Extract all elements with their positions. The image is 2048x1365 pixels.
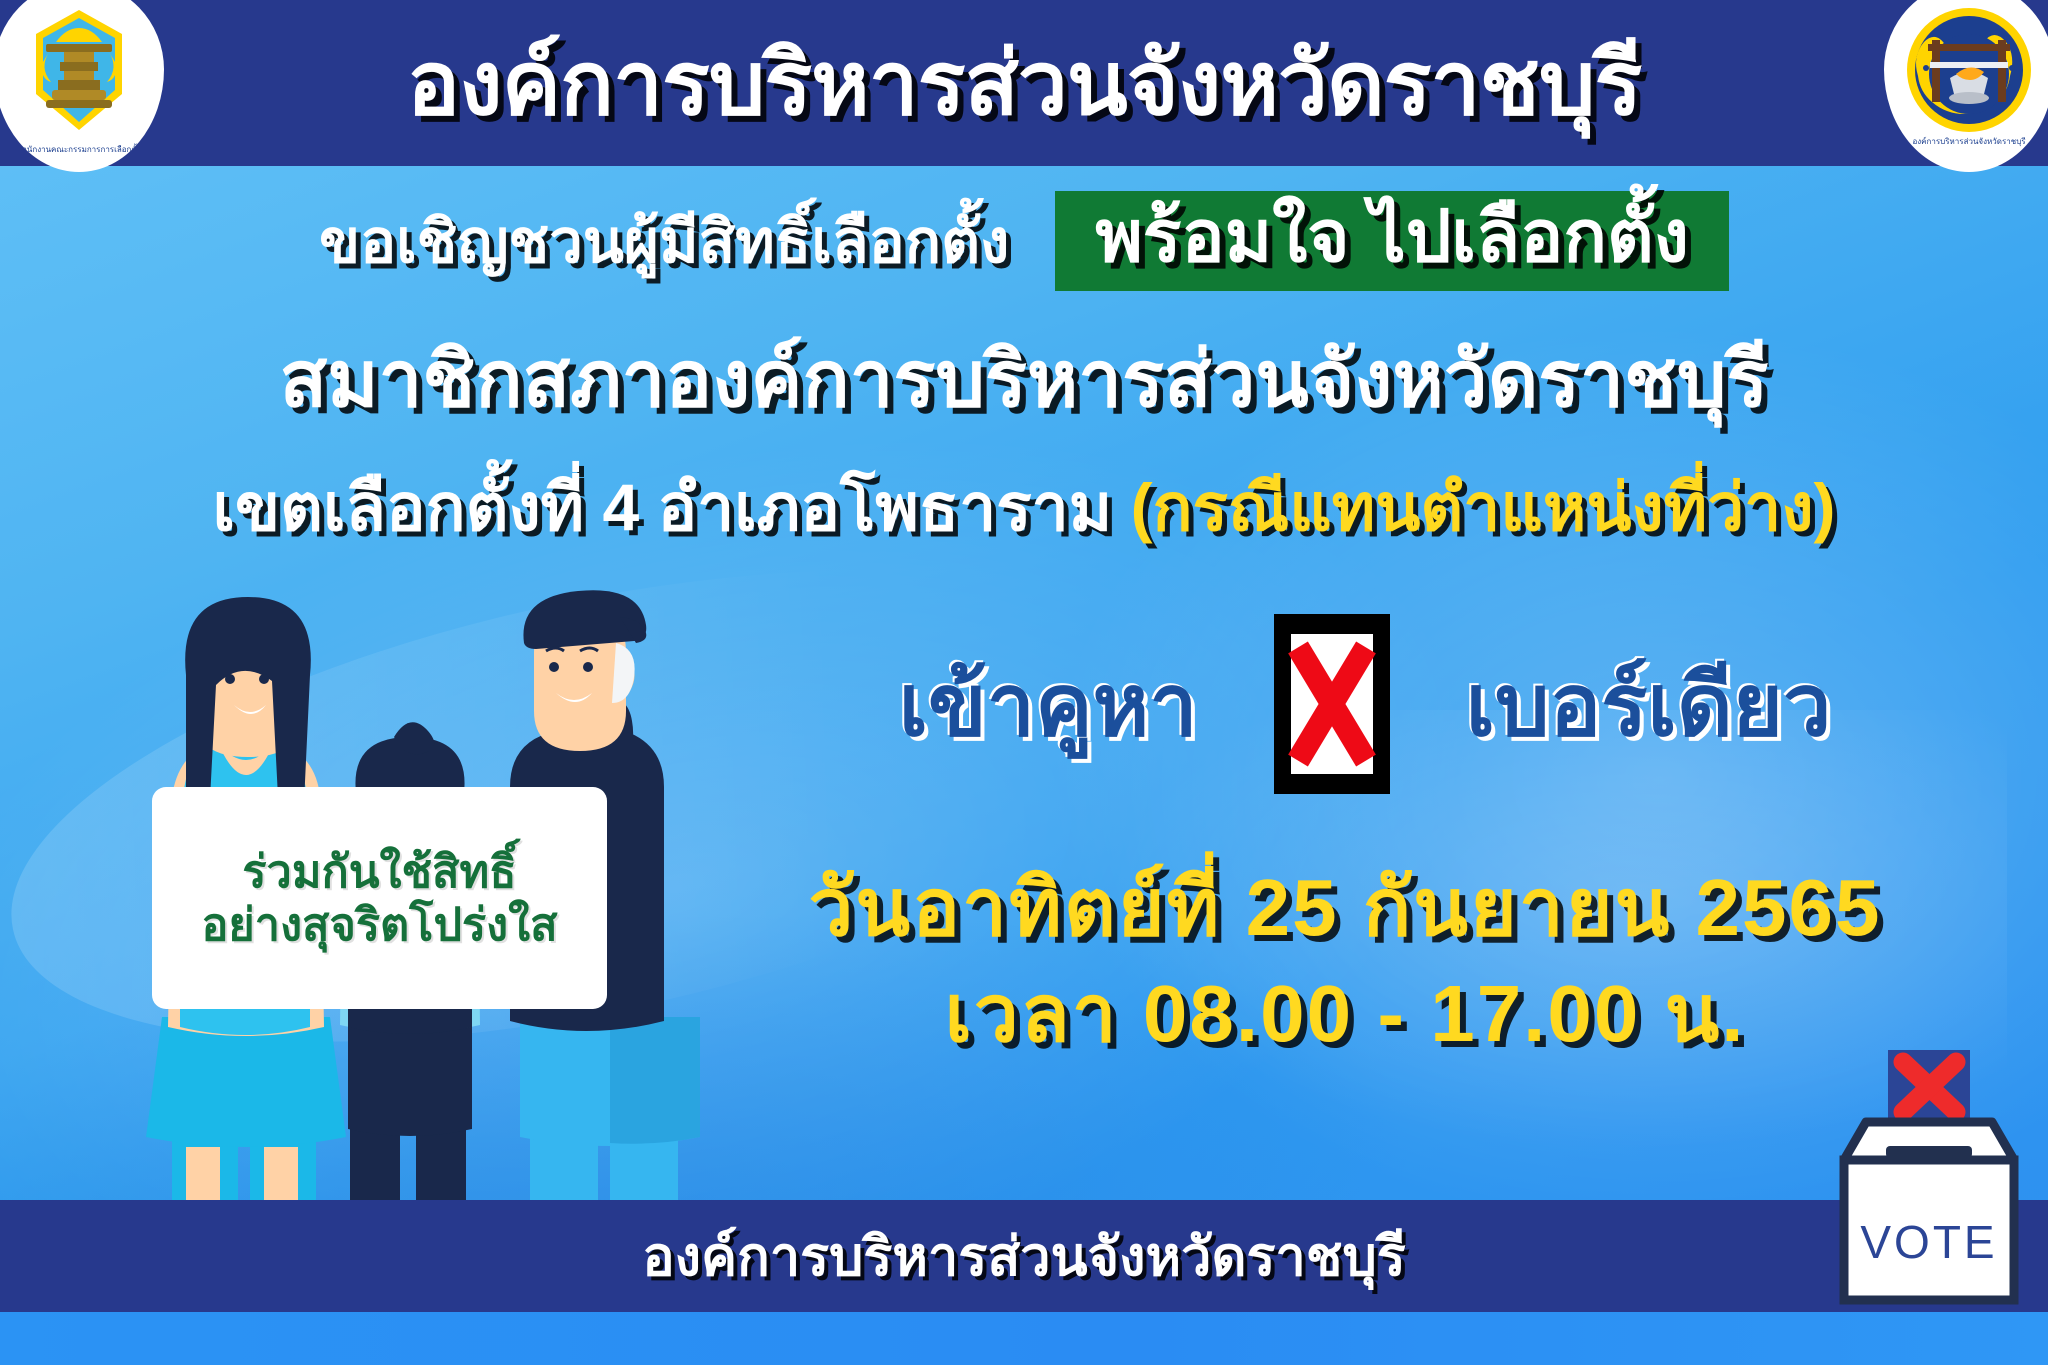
sign-line-2: อย่างสุจริตโปร่งใส: [201, 898, 557, 951]
red-x-ballot-mark-icon: [1274, 614, 1390, 794]
footer-bar: องค์การบริหารส่วนจังหวัดราชบุรี: [0, 1200, 2048, 1312]
woman-eye-right: [259, 674, 269, 684]
svg-text:สำนักงานคณะกรรมการการเลือกตั้ง: สำนักงานคณะกรรมการการเลือกตั้ง: [18, 143, 141, 154]
woman-skirt: [146, 1017, 346, 1147]
svg-text:องค์การบริหารส่วนจังหวัดราชบุร: องค์การบริหารส่วนจังหวัดราชบุรี: [1912, 136, 2026, 146]
booth-instruction-row: เข้าคูหา เบอร์เดียว: [770, 596, 1960, 812]
page-title: องค์การบริหารส่วนจังหวัดราชบุรี: [0, 0, 2048, 166]
slogan-text: พร้อมใจ ไปเลือกตั้ง: [1095, 197, 1689, 278]
council-row: สมาชิกสภาองค์การบริหารส่วนจังหวัดราชบุรี: [0, 337, 2048, 423]
child-shorts: [348, 1017, 472, 1136]
enter-booth-text: เข้าคูหา: [899, 636, 1198, 773]
ballot-box-with-red-x-icon: VOTE: [1826, 1050, 2032, 1310]
district-text: เขตเลือกตั้งที่ 4 อำเภอโพธาราม: [212, 470, 1130, 544]
invitation-row: ขอเชิญชวนผู้มีสิทธิ์เลือกตั้ง พร้อมใจ ไป…: [0, 176, 2048, 306]
woman-eye-left: [225, 674, 235, 684]
sign-line-1: ร่วมกันใช้สิทธิ์: [242, 845, 516, 898]
election-date: วันอาทิตย์ที่ 25 กันยายน 2565: [700, 855, 1990, 961]
election-announcement-poster: องค์การบริหารส่วนจังหวัดราชบุรี สำนักงาน…: [0, 0, 2048, 1365]
man-eye-left: [549, 662, 559, 672]
council-title: สมาชิกสภาองค์การบริหารส่วนจังหวัดราชบุรี: [280, 335, 1769, 423]
single-number-text: เบอร์เดียว: [1466, 636, 1832, 773]
man-eye-right: [583, 662, 593, 672]
vacancy-note: (กรณีแทนตำแหน่งที่ว่าง): [1131, 470, 1836, 544]
bottom-strip: [0, 1312, 2048, 1365]
protest-sign: ร่วมกันใช้สิทธิ์ อย่างสุจริตโปร่งใส: [152, 787, 607, 1009]
ballot-mark-field: [1291, 634, 1373, 774]
election-time: เวลา 08.00 - 17.00 น.: [700, 961, 1990, 1067]
slogan-highlight-box: พร้อมใจ ไปเลือกตั้ง: [1055, 191, 1729, 292]
schedule-block: วันอาทิตย์ที่ 25 กันยายน 2565 เวลา 08.00…: [700, 855, 1990, 1066]
footer-text: องค์การบริหารส่วนจังหวัดราชบุรี: [642, 1213, 1406, 1299]
vote-label-text: VOTE: [1860, 1216, 1997, 1268]
invitation-text: ขอเชิญชวนผู้มีสิทธิ์เลือกตั้ง: [319, 194, 1009, 289]
district-row: เขตเลือกตั้งที่ 4 อำเภอโพธาราม (กรณีแทนต…: [0, 455, 2048, 560]
